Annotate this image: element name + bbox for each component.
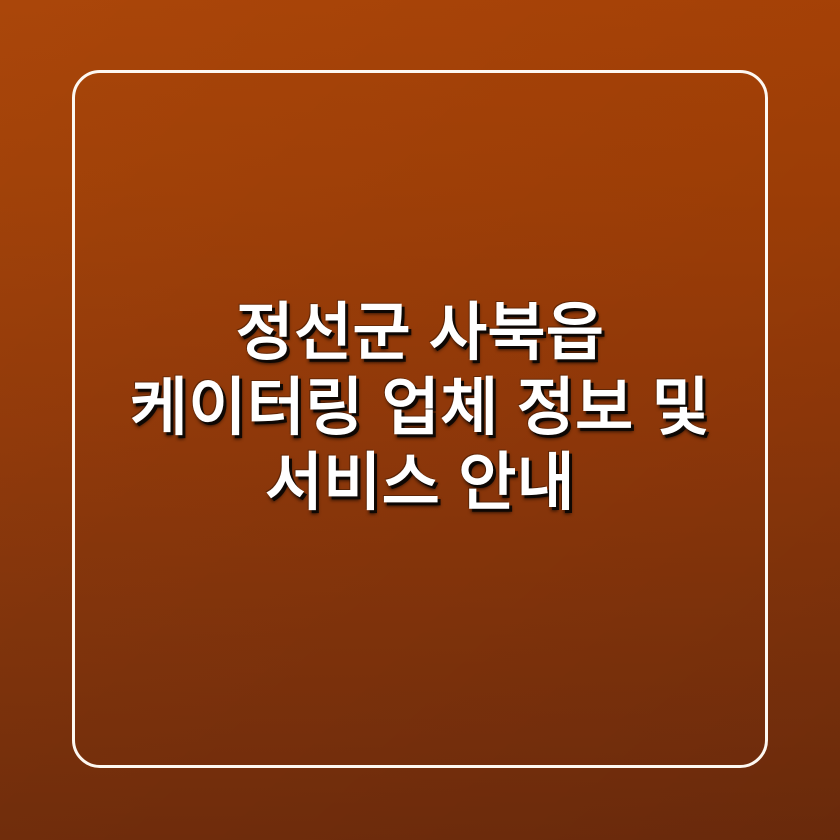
title-line-2: 케이터링 업체 정보 및 <box>70 371 770 446</box>
title-line-3: 서비스 안내 <box>70 446 770 521</box>
poster-canvas: 정선군 사북읍 케이터링 업체 정보 및 서비스 안내 <box>0 0 840 840</box>
page-title: 정선군 사북읍 케이터링 업체 정보 및 서비스 안내 <box>70 296 770 521</box>
title-line-1: 정선군 사북읍 <box>70 296 770 371</box>
